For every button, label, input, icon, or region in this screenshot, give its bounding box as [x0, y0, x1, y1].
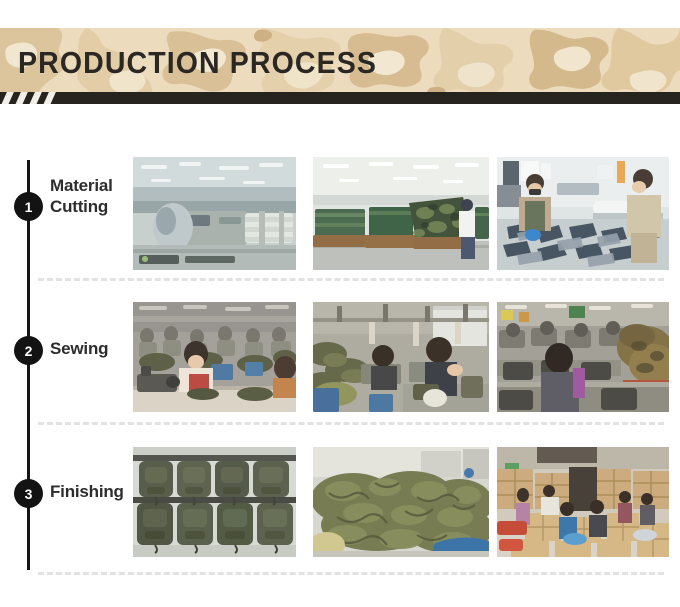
step-badge-2: 2 [14, 336, 43, 365]
photo-finished-backpacks [133, 447, 296, 557]
step-label-2: Sewing [50, 339, 132, 360]
photo-sewing-line [313, 302, 489, 412]
step-1-photo-1 [133, 157, 296, 270]
step-1-photo-2 [313, 157, 489, 270]
photo-fabric-cutting [497, 157, 669, 270]
step-2-photo-3 [497, 302, 669, 412]
row-divider-1 [38, 278, 664, 281]
timeline-vertical-line [27, 160, 30, 570]
row-divider-3 [38, 572, 664, 575]
step-badge-1: 1 [14, 192, 43, 221]
step-2-photo-1 [133, 302, 296, 412]
step-1-photo-3 [497, 157, 669, 270]
page-title: PRODUCTION PROCESS [18, 28, 377, 98]
photo-weaving-machines [133, 157, 296, 270]
step-3-photo-3 [497, 447, 669, 557]
row-divider-2 [38, 422, 664, 425]
diagonal-stripes-icon [4, 92, 66, 104]
photo-sewing-workshop [133, 302, 296, 412]
step-label-3: Finishing [50, 482, 132, 503]
step-3-photo-2 [313, 447, 489, 557]
step-3-photo-1 [133, 447, 296, 557]
page-header: PRODUCTION PROCESS [0, 28, 680, 98]
step-2-photo-2 [313, 302, 489, 412]
photo-bag-pile [313, 447, 489, 557]
header-accent-bar [0, 92, 680, 104]
production-process-page: PRODUCTION PROCESS 1 Material Cutting 2 … [0, 0, 680, 607]
photo-sewing-hall [497, 302, 669, 412]
photo-camo-fabric-rolls [313, 157, 489, 270]
step-badge-3: 3 [14, 479, 43, 508]
photo-packing-area [497, 447, 669, 557]
step-label-1: Material Cutting [50, 176, 132, 217]
